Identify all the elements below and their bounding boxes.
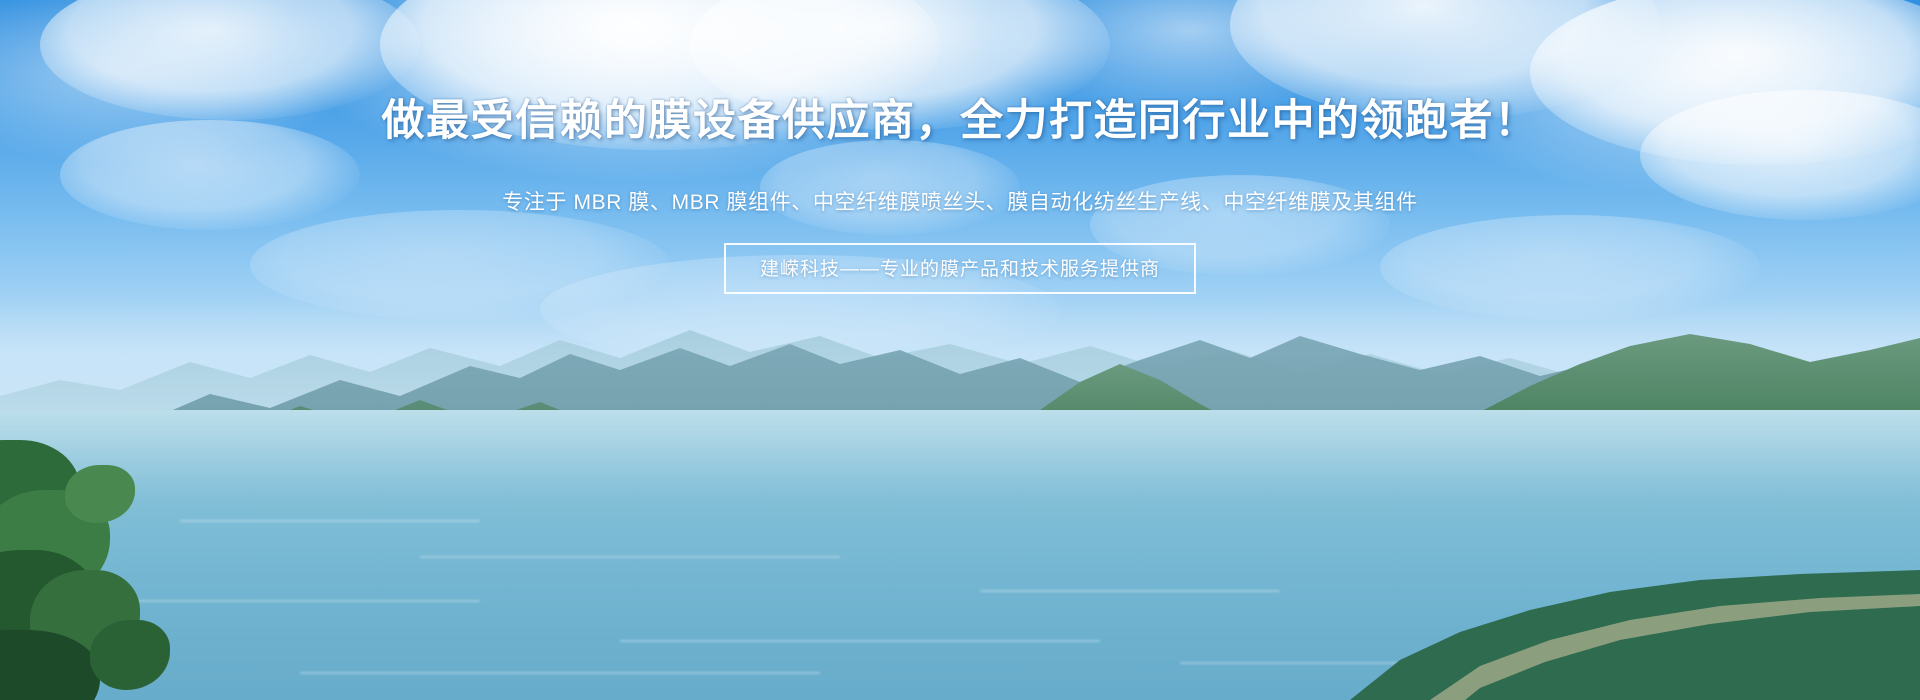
banner-text-overlay: 做最受信赖的膜设备供应商，全力打造同行业中的领跑者！ 专注于 MBR 膜、MBR… — [0, 0, 1920, 700]
banner-tagline-wrapper: 建嵘科技——专业的膜产品和技术服务提供商 — [0, 243, 1920, 294]
banner-tagline-box: 建嵘科技——专业的膜产品和技术服务提供商 — [724, 243, 1196, 294]
banner-headline: 做最受信赖的膜设备供应商，全力打造同行业中的领跑者！ — [0, 98, 1920, 144]
banner-subheadline: 专注于 MBR 膜、MBR 膜组件、中空纤维膜喷丝头、膜自动化纺丝生产线、中空纤… — [0, 186, 1920, 216]
hero-banner: 做最受信赖的膜设备供应商，全力打造同行业中的领跑者！ 专注于 MBR 膜、MBR… — [0, 0, 1920, 700]
